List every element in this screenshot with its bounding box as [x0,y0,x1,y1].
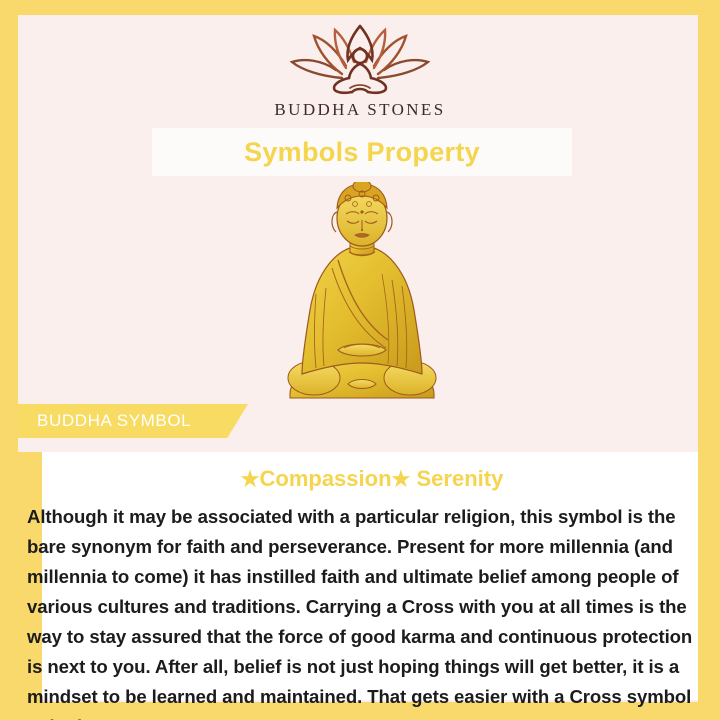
attribute-compassion: Compassion [260,466,392,491]
title-banner: Symbols Property [152,128,572,176]
star-icon-2: ★ [392,468,411,491]
buddha-illustration [276,182,448,410]
badge-label: BUDDHA SYMBOL [37,411,191,431]
description-paragraph: Although it may be associated with a par… [27,502,693,720]
star-icon-1: ★ [241,468,260,491]
brand-name: BUDDHA STONES [0,100,720,120]
status-badge: BUDDHA SYMBOL [18,404,248,438]
lotus-meditation-figure-icon [280,18,440,96]
top-yellow-border [0,0,720,15]
poster-root: BUDDHA STONES Symbols Property [0,0,720,720]
attributes-subtitle: ★Compassion★ Serenity [42,466,702,492]
seated-buddha-statue-icon [276,182,448,410]
attribute-serenity: Serenity [416,466,503,491]
brand-logo: BUDDHA STONES [0,18,720,120]
page-title: Symbols Property [244,137,480,168]
